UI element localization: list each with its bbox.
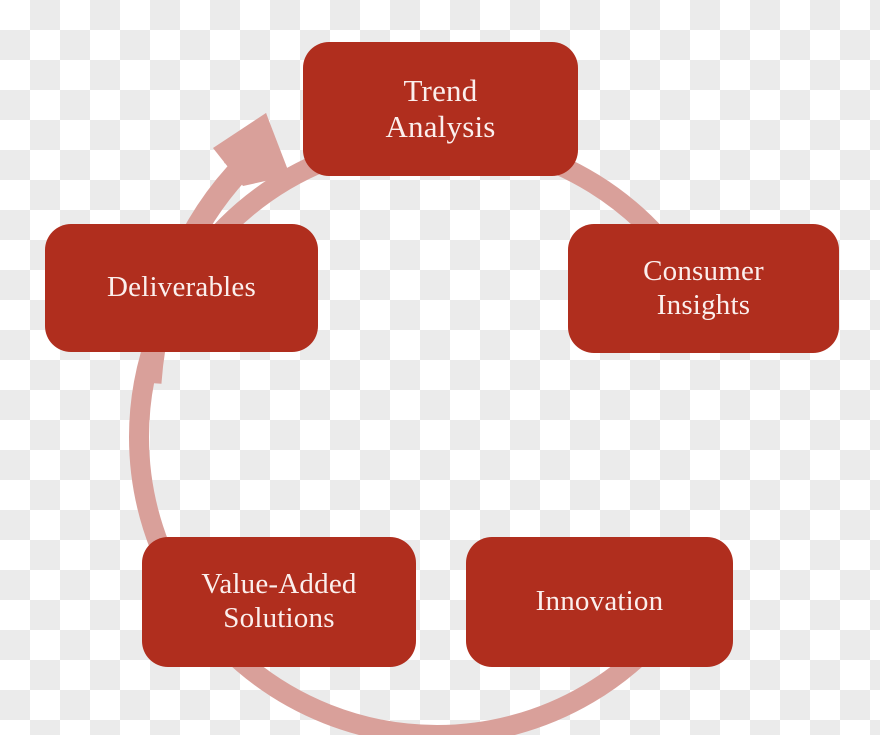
node-value-added-solutions[interactable]: Value-Added Solutions bbox=[142, 537, 416, 667]
node-innovation[interactable]: Innovation bbox=[466, 537, 733, 667]
node-value-added-solutions-label: Value-Added Solutions bbox=[201, 568, 356, 635]
node-trend-analysis[interactable]: Trend Analysis bbox=[303, 42, 578, 176]
node-innovation-label: Innovation bbox=[536, 585, 664, 619]
node-consumer-insights[interactable]: Consumer Insights bbox=[568, 224, 839, 353]
node-trend-analysis-label: Trend Analysis bbox=[385, 73, 495, 145]
node-consumer-insights-label: Consumer Insights bbox=[643, 255, 764, 322]
node-deliverables[interactable]: Deliverables bbox=[45, 224, 318, 352]
diagram-canvas: Trend Analysis Consumer Insights Innovat… bbox=[0, 0, 880, 735]
node-deliverables-label: Deliverables bbox=[107, 271, 256, 305]
